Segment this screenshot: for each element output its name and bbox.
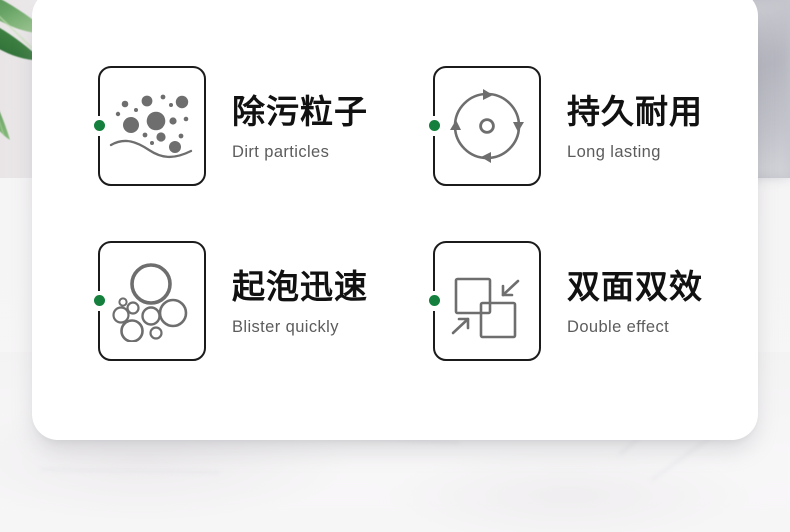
icon-frame — [429, 66, 543, 191]
icon-frame — [94, 66, 208, 191]
feature-labels: 除污粒子 Dirt particles — [232, 94, 368, 163]
feature-title-cn: 起泡迅速 — [232, 269, 368, 305]
feature-title-en: Blister quickly — [232, 318, 368, 338]
feature-labels: 起泡迅速 Blister quickly — [232, 269, 368, 338]
feature-grid: 除污粒子 Dirt particles — [32, 0, 758, 440]
feature-title-en: Long lasting — [567, 143, 703, 163]
feature-title-cn: 双面双效 — [567, 269, 703, 305]
feature-item-long-lasting[interactable]: 持久耐用 Long lasting — [429, 66, 703, 191]
dirt-particles-icon — [98, 66, 206, 186]
product-feature-panel: 除污粒子 Dirt particles — [0, 0, 790, 532]
feature-title-cn: 除污粒子 — [232, 94, 368, 130]
bubbles-icon — [98, 241, 206, 361]
feature-labels: 持久耐用 Long lasting — [567, 94, 703, 163]
feature-labels: 双面双效 Double effect — [567, 269, 703, 338]
overlapping-squares-icon — [433, 241, 541, 361]
feature-item-blister-quickly[interactable]: 起泡迅速 Blister quickly — [94, 241, 368, 366]
feature-card: 除污粒子 Dirt particles — [32, 0, 758, 440]
rotating-arrows-icon — [433, 66, 541, 186]
feature-title-en: Double effect — [567, 318, 703, 338]
feature-item-double-effect[interactable]: 双面双效 Double effect — [429, 241, 703, 366]
feature-title-en: Dirt particles — [232, 143, 368, 163]
feature-title-cn: 持久耐用 — [567, 94, 703, 130]
icon-frame — [429, 241, 543, 366]
icon-frame — [94, 241, 208, 366]
feature-item-dirt-particles[interactable]: 除污粒子 Dirt particles — [94, 66, 368, 191]
